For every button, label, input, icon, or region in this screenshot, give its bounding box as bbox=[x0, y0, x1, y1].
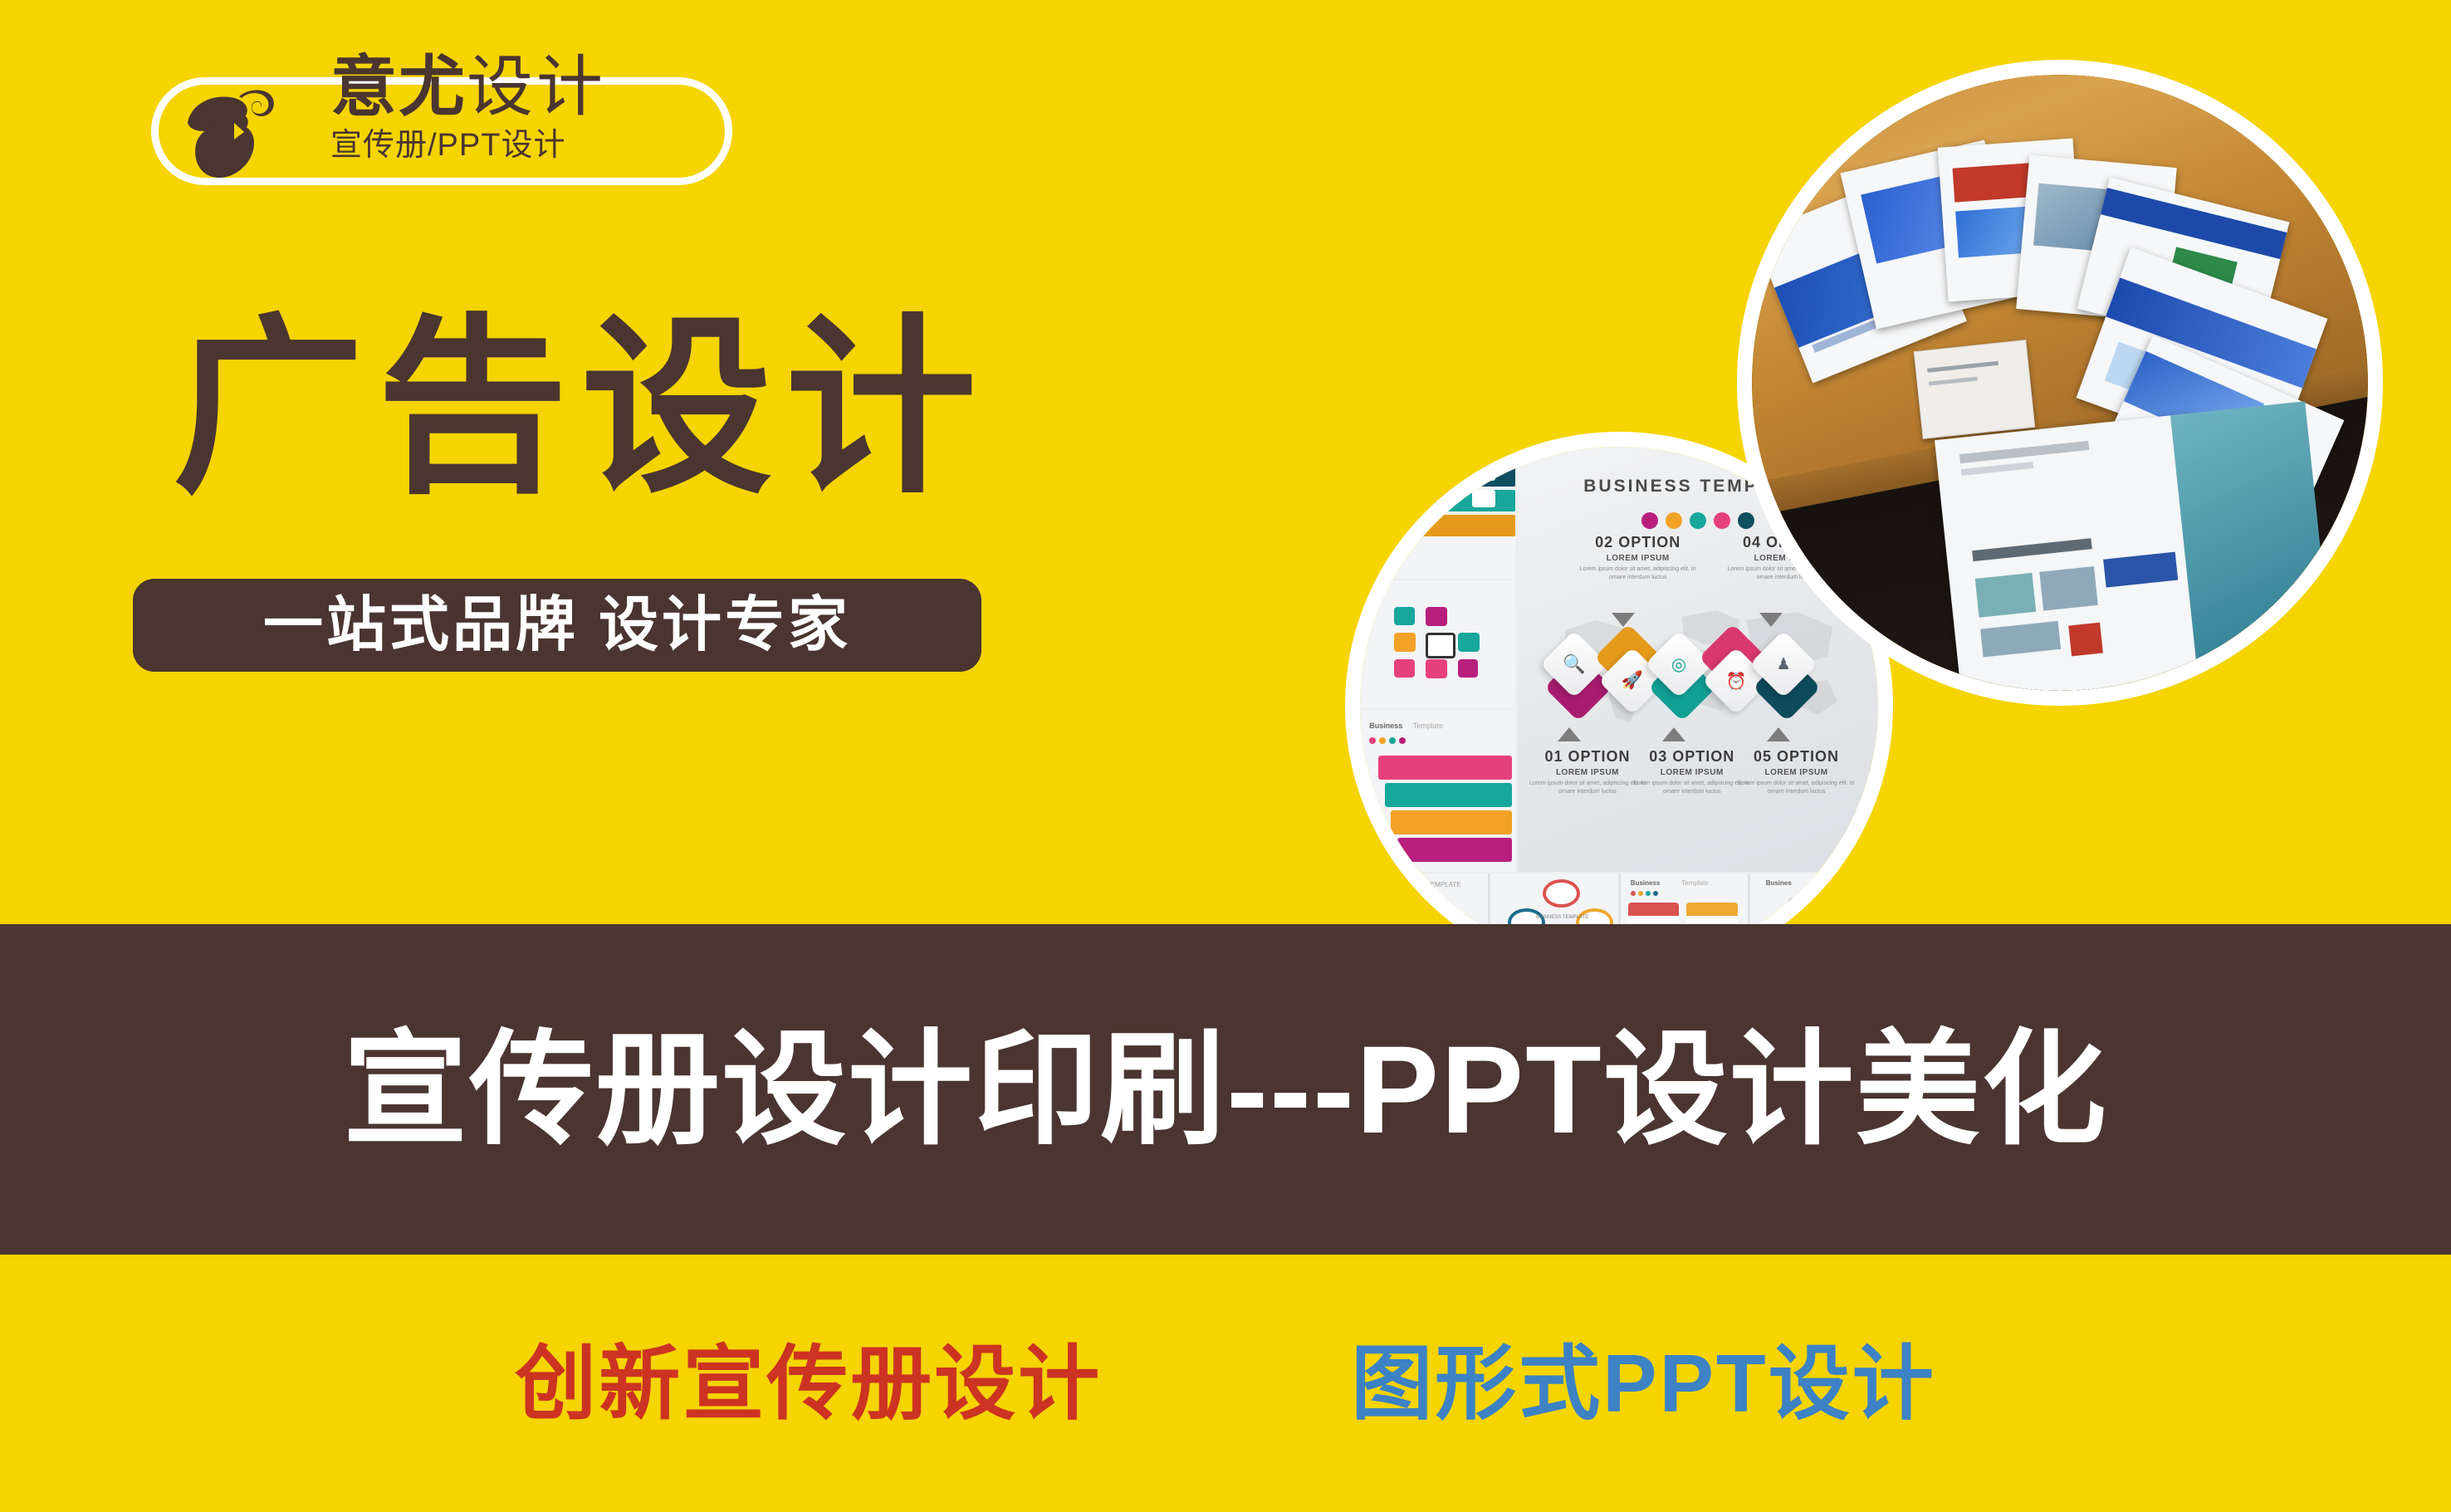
footer-service-brochure: 创新宣传册设计 bbox=[515, 1343, 1102, 1424]
logo-subtitle: 宣传册/PPT设计 bbox=[330, 126, 721, 164]
logo-brand-bold: 意尤 bbox=[330, 50, 467, 124]
diamond-front-03: ◎ bbox=[1645, 630, 1713, 698]
footer-service-ppt: 图形式PPT设计 bbox=[1351, 1343, 1936, 1424]
ppt-mini-column: Business Template bbox=[1360, 447, 1515, 872]
advertising-design-banner: 意尤设计 宣传册/PPT设计 广告设计 一站式品牌 设计专家 bbox=[0, 0, 2451, 1512]
ppt-option-02: 02 OPTION LOREM IPSUM Lorem ipsum dolor … bbox=[1576, 534, 1700, 582]
headline-band: 宣传册设计印刷---PPT设计美化 bbox=[0, 924, 2451, 1255]
stylized-bird-leaf-logo-icon bbox=[163, 80, 302, 184]
triangle-up-icon bbox=[1662, 727, 1685, 741]
tagline-badge: 一站式品牌 设计专家 bbox=[133, 579, 981, 672]
headline-band-text: 宣传册设计印刷---PPT设计美化 bbox=[343, 1027, 2108, 1152]
triangle-up-icon bbox=[1558, 727, 1581, 741]
logo-text-block: 意尤设计 宣传册/PPT设计 bbox=[330, 51, 721, 184]
page-title: 广告设计 bbox=[173, 309, 990, 508]
triangle-up-icon bbox=[1767, 727, 1790, 741]
ppt-option-05: 05 OPTION LOREM IPSUM Lorem ipsum dolor … bbox=[1734, 748, 1859, 796]
tagline-badge-label: 一站式品牌 设计专家 bbox=[263, 595, 851, 655]
ppt-color-dots bbox=[1641, 512, 1754, 529]
triangle-down-icon bbox=[1612, 613, 1635, 627]
footer-services: 创新宣传册设计 图形式PPT设计 bbox=[0, 1255, 2451, 1512]
logo-brand-line: 意尤设计 bbox=[330, 51, 721, 123]
brochure-photo-scene bbox=[1752, 75, 2368, 691]
printed-brochure-photo-circle bbox=[1737, 60, 2383, 706]
logo-brand-thin: 设计 bbox=[467, 50, 606, 124]
